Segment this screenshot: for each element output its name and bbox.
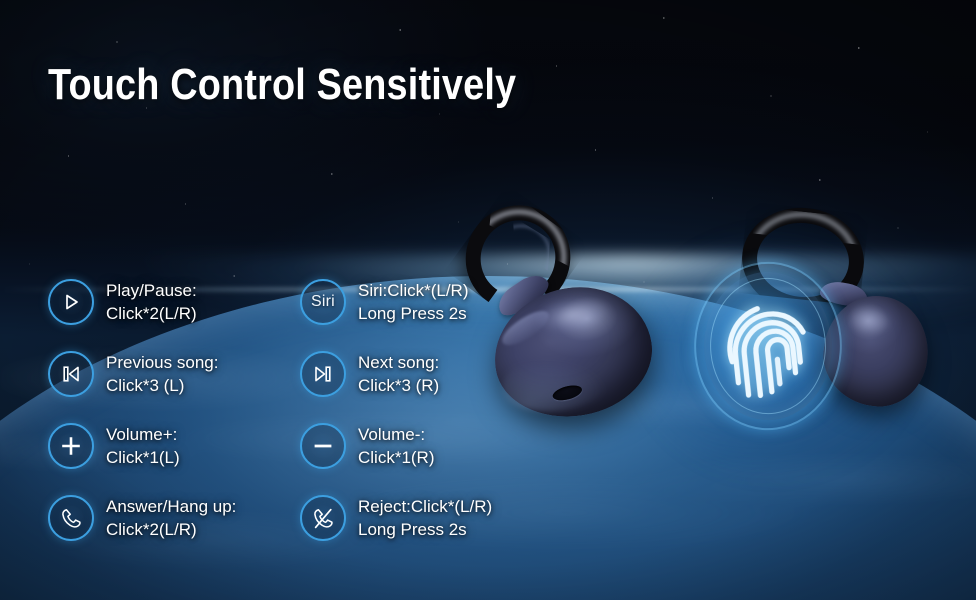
feature-line2: Click*1(L) (106, 446, 180, 469)
feature-text: Answer/Hang up: Click*2(L/R) (106, 495, 236, 541)
feature-text: Next song: Click*3 (R) (358, 351, 439, 397)
feature-text: Siri:Click*(L/R) Long Press 2s (358, 279, 469, 325)
feature-line2: Click*2(L/R) (106, 518, 236, 541)
feature-item-answer-hangup: Answer/Hang up: Click*2(L/R) (48, 482, 300, 554)
feature-text: Reject:Click*(L/R) Long Press 2s (358, 495, 492, 541)
siri-icon: Siri (300, 279, 346, 325)
feature-line2: Click*3 (L) (106, 374, 218, 397)
feature-line1: Volume-: (358, 425, 425, 444)
feature-item-siri: Siri Siri:Click*(L/R) Long Press 2s (300, 266, 552, 338)
feature-line1: Play/Pause: (106, 281, 197, 300)
previous-track-icon (48, 351, 94, 397)
feature-text: Volume+: Click*1(L) (106, 423, 180, 469)
play-pause-icon (48, 279, 94, 325)
next-track-icon (300, 351, 346, 397)
feature-item-previous-song: Previous song: Click*3 (L) (48, 338, 300, 410)
feature-item-volume-up: Volume+: Click*1(L) (48, 410, 300, 482)
phone-reject-icon (300, 495, 346, 541)
feature-line2: Long Press 2s (358, 518, 492, 541)
feature-line1: Siri:Click*(L/R) (358, 281, 469, 300)
feature-item-play-pause: Play/Pause: Click*2(L/R) (48, 266, 300, 338)
page-title: Touch Control Sensitively (48, 60, 516, 110)
feature-line1: Next song: (358, 353, 439, 372)
feature-line2: Click*2(L/R) (106, 302, 197, 325)
touch-control-list: Play/Pause: Click*2(L/R) Siri Siri:Click… (48, 266, 568, 554)
feature-line1: Answer/Hang up: (106, 497, 236, 516)
feature-line2: Long Press 2s (358, 302, 469, 325)
volume-down-icon (300, 423, 346, 469)
feature-text: Play/Pause: Click*2(L/R) (106, 279, 197, 325)
feature-line1: Previous song: (106, 353, 218, 372)
promo-banner: Touch Control Sensitively Play/Pause: Cl… (0, 0, 976, 600)
volume-up-icon (48, 423, 94, 469)
siri-badge-label: Siri (311, 293, 335, 311)
feature-item-volume-down: Volume-: Click*1(R) (300, 410, 552, 482)
feature-line2: Click*3 (R) (358, 374, 439, 397)
feature-line2: Click*1(R) (358, 446, 435, 469)
feature-item-reject-call: Reject:Click*(L/R) Long Press 2s (300, 482, 552, 554)
feature-text: Previous song: Click*3 (L) (106, 351, 218, 397)
feature-line1: Volume+: (106, 425, 177, 444)
feature-line1: Reject:Click*(L/R) (358, 497, 492, 516)
phone-answer-icon (48, 495, 94, 541)
feature-item-next-song: Next song: Click*3 (R) (300, 338, 552, 410)
feature-text: Volume-: Click*1(R) (358, 423, 435, 469)
